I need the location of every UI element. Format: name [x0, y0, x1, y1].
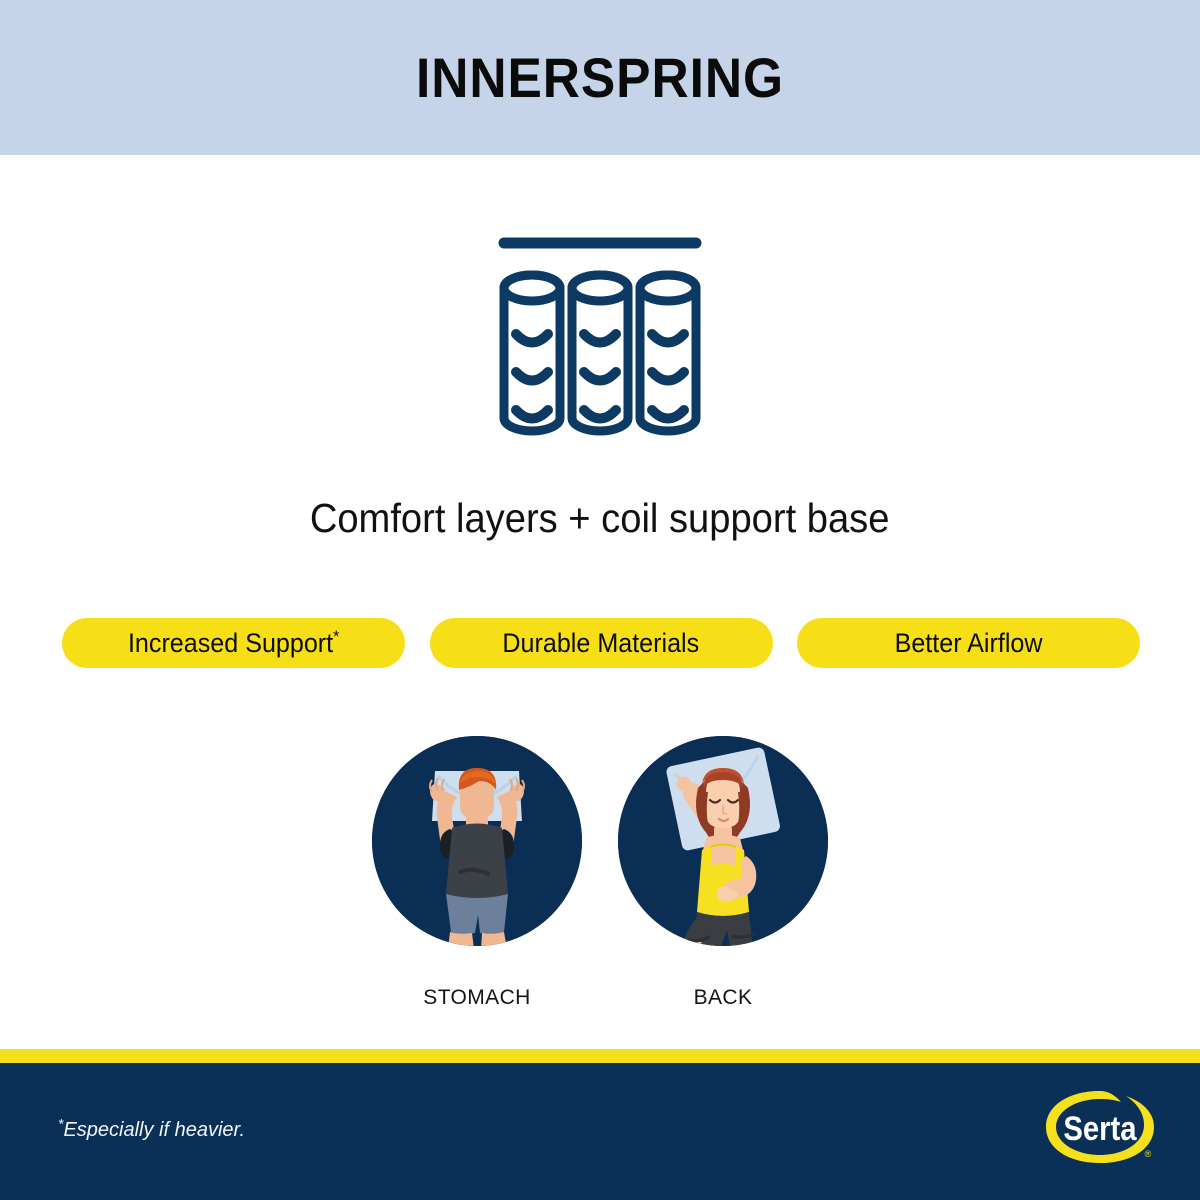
sleep-position-stomach[interactable]: STOMACH [372, 736, 582, 1010]
footer-accent-stripe [0, 1049, 1200, 1063]
sleep-position-label: BACK [618, 986, 828, 1010]
page-title: INNERSPRING [416, 45, 784, 110]
benefit-footnote-marker: * [333, 627, 339, 646]
footnote-text: Especially if heavier. [63, 1119, 245, 1141]
serta-logo[interactable]: Serta ® [1038, 1083, 1162, 1175]
sleep-position-label: STOMACH [372, 986, 582, 1010]
header-band: INNERSPRING [0, 0, 1200, 155]
benefit-pill-label: Durable Materials [503, 630, 700, 657]
coil-stack-icon [484, 228, 716, 444]
headline-text: Comfort layers + coil support base [310, 495, 890, 542]
registered-mark: ® [1145, 1149, 1152, 1159]
benefit-label-text: Durable Materials [503, 628, 700, 658]
benefit-pill-better-airflow[interactable]: Better Airflow [797, 618, 1140, 668]
sleep-position-back[interactable]: BACK [618, 736, 828, 1010]
serta-wordmark: Serta [1063, 1109, 1136, 1148]
benefit-label-text: Increased Support [128, 628, 333, 658]
benefit-pill-durable-materials[interactable]: Durable Materials [430, 618, 773, 668]
benefit-pill-increased-support[interactable]: Increased Support* [62, 618, 405, 668]
benefits-row: Increased Support* Durable Materials Bet… [62, 618, 1140, 668]
back-sleeper-illustration [618, 736, 828, 946]
stomach-sleeper-illustration [372, 736, 582, 946]
benefit-pill-label: Increased Support* [128, 630, 339, 657]
innerspring-infographic: INNERSPRING [0, 0, 1200, 1200]
benefit-label-text: Better Airflow [895, 628, 1043, 658]
footnote: *Especially if heavier. [58, 1119, 245, 1142]
benefit-pill-label: Better Airflow [895, 630, 1043, 657]
headline: Comfort layers + coil support base [0, 495, 1200, 542]
sleep-positions-row: STOMACH [0, 736, 1200, 1026]
